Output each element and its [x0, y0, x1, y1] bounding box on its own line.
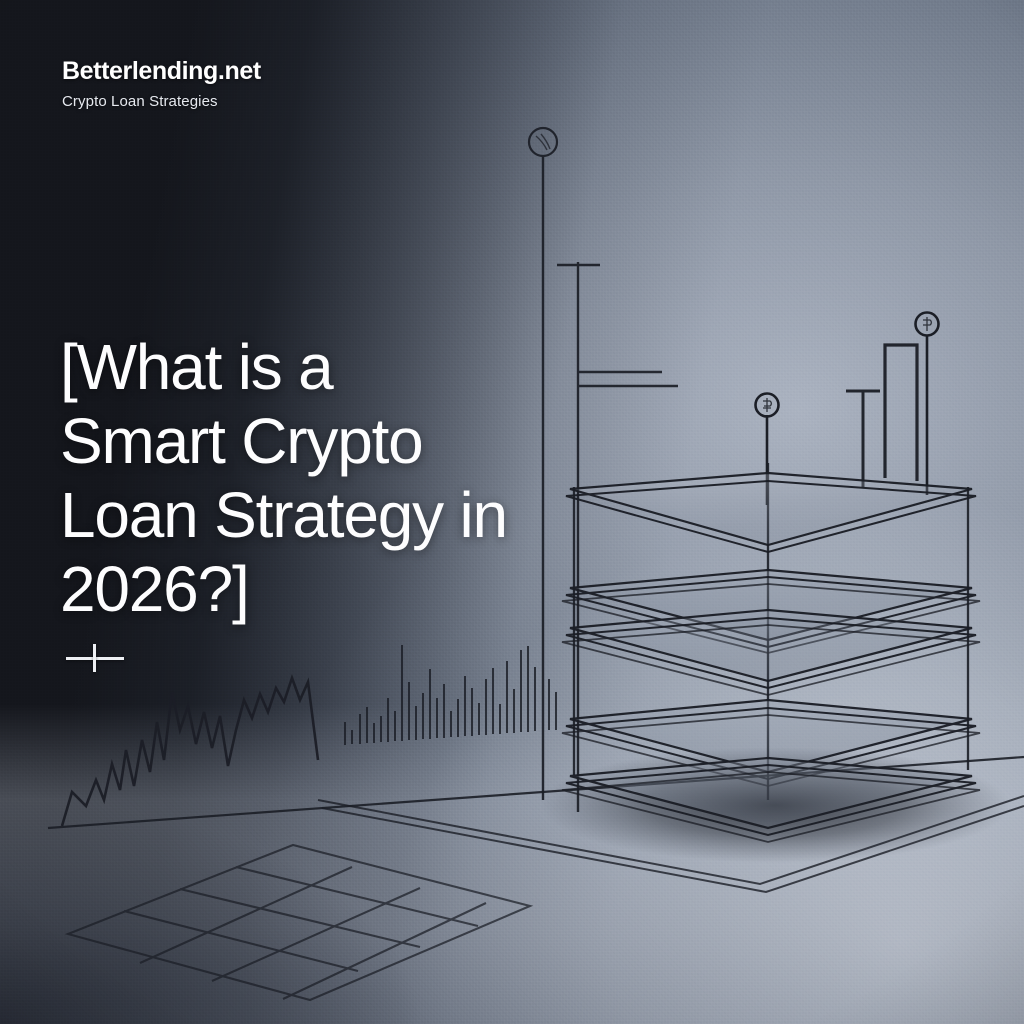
coin-marker-right [916, 313, 939, 496]
poster-canvas: Betterlending.net Crypto Loan Strategies… [0, 0, 1024, 1024]
plus-ornament-icon [66, 643, 124, 673]
line-chart [62, 678, 318, 826]
brand-name: Betterlending.net [62, 58, 261, 86]
page-title: [What is a Smart Crypto Loan Strategy in… [60, 330, 680, 626]
bar-chart-markers [846, 345, 917, 487]
brand-tagline: Crypto Loan Strategies [62, 93, 261, 110]
brand-header: Betterlending.net Crypto Loan Strategies [62, 58, 261, 110]
bar-chart-volume [345, 645, 556, 745]
isometric-grid [68, 845, 530, 1000]
